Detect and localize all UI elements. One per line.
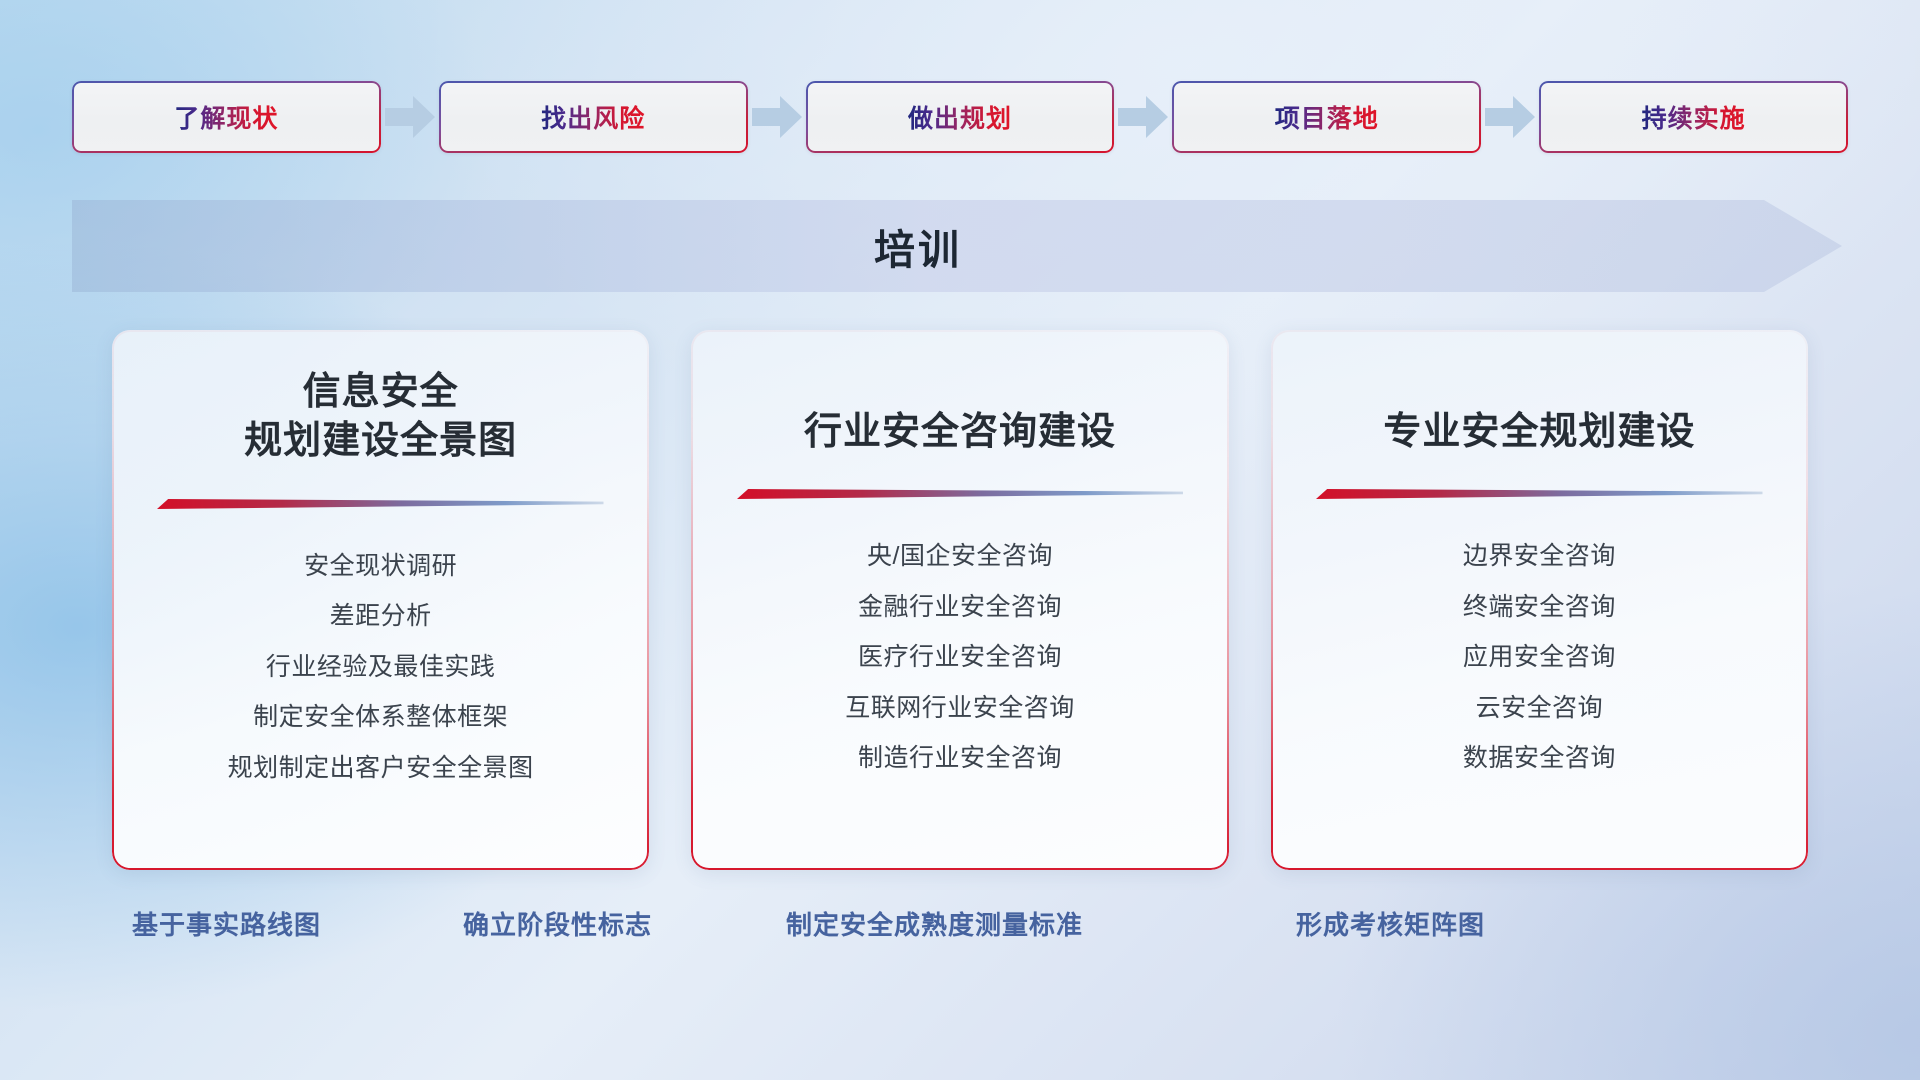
list-item: 差距分析 [330, 596, 432, 637]
card-title: 行业安全咨询建设 [804, 408, 1116, 457]
step-arrow-icon-2 [748, 94, 806, 140]
list-item: 安全现状调研 [304, 546, 457, 587]
step-arrow-icon-3 [1114, 94, 1172, 140]
card-title: 专业安全规划建设 [1383, 408, 1695, 457]
caption-label-2: 确立阶段性标志 [463, 905, 652, 942]
caption-label-3: 制定安全成熟度测量标准 [786, 905, 1083, 942]
training-banner: 培训 [72, 200, 1842, 292]
list-item: 行业经验及最佳实践 [266, 647, 496, 688]
step-chip-4[interactable]: 项目落地 [1172, 81, 1481, 153]
step-label: 持续实施 [1642, 99, 1746, 135]
card-title: 信息安全 规划建设全景图 [244, 368, 517, 467]
slide-canvas: 了解现状 找出风险 做出规划 项目落地 [0, 0, 1920, 1080]
card-list: 央/国企安全咨询 金融行业安全咨询 医疗行业安全咨询 互联网行业安全咨询 制造行… [717, 536, 1202, 779]
list-item: 数据安全咨询 [1463, 738, 1616, 779]
caption-label-1: 基于事实路线图 [132, 905, 321, 942]
list-item: 制定安全体系整体框架 [253, 697, 508, 738]
list-item: 医疗行业安全咨询 [858, 637, 1062, 678]
step-arrow-icon-1 [381, 94, 439, 140]
step-chip-1[interactable]: 了解现状 [72, 81, 381, 153]
step-chip-5[interactable]: 持续实施 [1539, 81, 1848, 153]
list-item: 终端安全咨询 [1463, 587, 1616, 628]
list-item: 制造行业安全咨询 [858, 738, 1062, 779]
card-industry-security-consulting[interactable]: 行业安全咨询建设 央/国企安全咨询 [691, 330, 1228, 870]
caption-label-4: 形成考核矩阵图 [1296, 905, 1485, 942]
card-list: 边界安全咨询 终端安全咨询 应用安全咨询 云安全咨询 数据安全咨询 [1297, 536, 1782, 779]
card-divider-icon [737, 487, 1184, 500]
card-professional-security-planning[interactable]: 专业安全规划建设 边界安全咨询 [1271, 330, 1808, 870]
step-label: 了解现状 [174, 99, 278, 135]
step-arrow-icon-4 [1481, 94, 1539, 140]
card-row: 信息安全 规划建设全景图 安全现状调研 [112, 330, 1808, 870]
step-label: 做出规划 [908, 99, 1012, 135]
list-item: 云安全咨询 [1476, 688, 1604, 729]
list-item: 应用安全咨询 [1463, 637, 1616, 678]
list-item: 金融行业安全咨询 [858, 587, 1062, 628]
list-item: 边界安全咨询 [1463, 536, 1616, 577]
list-item: 互联网行业安全咨询 [845, 688, 1075, 729]
step-chip-2[interactable]: 找出风险 [439, 81, 748, 153]
card-divider-icon [157, 497, 604, 510]
card-list: 安全现状调研 差距分析 行业经验及最佳实践 制定安全体系整体框架 规划制定出客户… [138, 546, 623, 789]
caption-row: 基于事实路线图 确立阶段性标志 制定安全成熟度测量标准 形成考核矩阵图 [0, 905, 1920, 965]
list-item: 规划制定出客户安全全景图 [228, 748, 534, 789]
card-divider-icon [1316, 487, 1763, 500]
banner-title: 培训 [72, 200, 1842, 292]
step-label: 找出风险 [541, 99, 645, 135]
step-label: 项目落地 [1275, 99, 1379, 135]
list-item: 央/国企安全咨询 [867, 536, 1053, 577]
process-steps-row: 了解现状 找出风险 做出规划 项目落地 [72, 78, 1848, 156]
card-info-security-panorama[interactable]: 信息安全 规划建设全景图 安全现状调研 [112, 330, 649, 870]
step-chip-3[interactable]: 做出规划 [806, 81, 1115, 153]
